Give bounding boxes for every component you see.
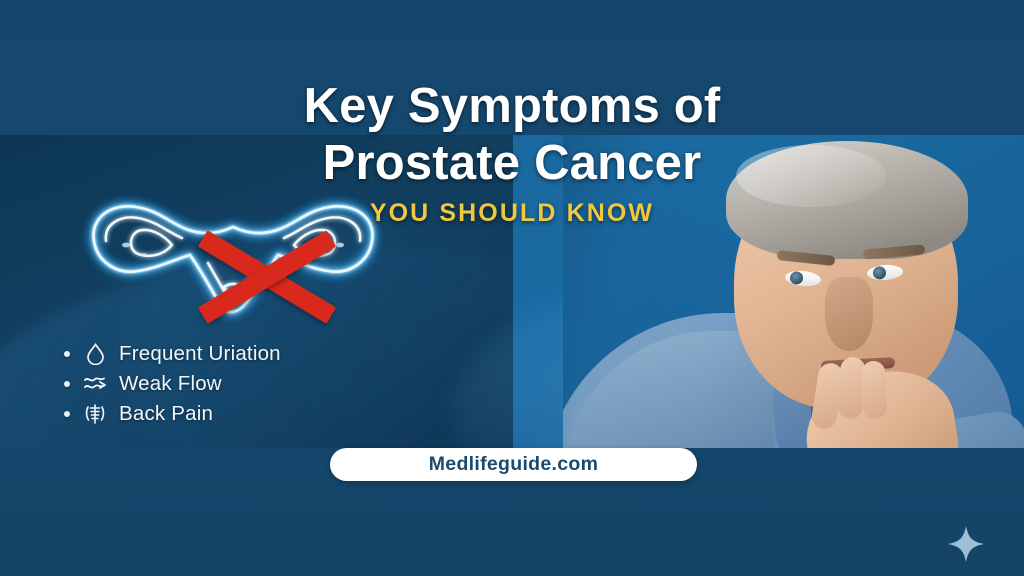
flow-wave-icon	[84, 373, 106, 395]
website-url-text: Medlifeguide.com	[429, 453, 598, 476]
list-item: Back Pain	[64, 401, 281, 427]
bullet-dot	[64, 411, 70, 417]
spine-icon	[84, 403, 106, 425]
bullet-dot	[64, 351, 70, 357]
list-item: Frequent Uriation	[64, 341, 281, 367]
symptom-label: Back Pain	[119, 402, 213, 426]
symptom-label: Frequent Uriation	[119, 342, 281, 366]
thoughtful-man-photo	[563, 135, 1024, 448]
website-badge[interactable]: Medlifeguide.com	[330, 448, 697, 481]
photo-edge-blend	[563, 135, 1024, 448]
poster-canvas: Key Symptoms of Prostate Cancer YOU SHOU…	[0, 0, 1024, 576]
sparkle-star-icon	[944, 522, 988, 566]
bullet-dot	[64, 381, 70, 387]
list-item: Weak Flow	[64, 371, 281, 397]
symptom-label: Weak Flow	[119, 372, 222, 396]
water-drop-icon	[84, 343, 106, 365]
symptom-list: Frequent Uriation Weak Flow	[64, 341, 281, 431]
red-x-cross-overlay	[196, 236, 338, 318]
